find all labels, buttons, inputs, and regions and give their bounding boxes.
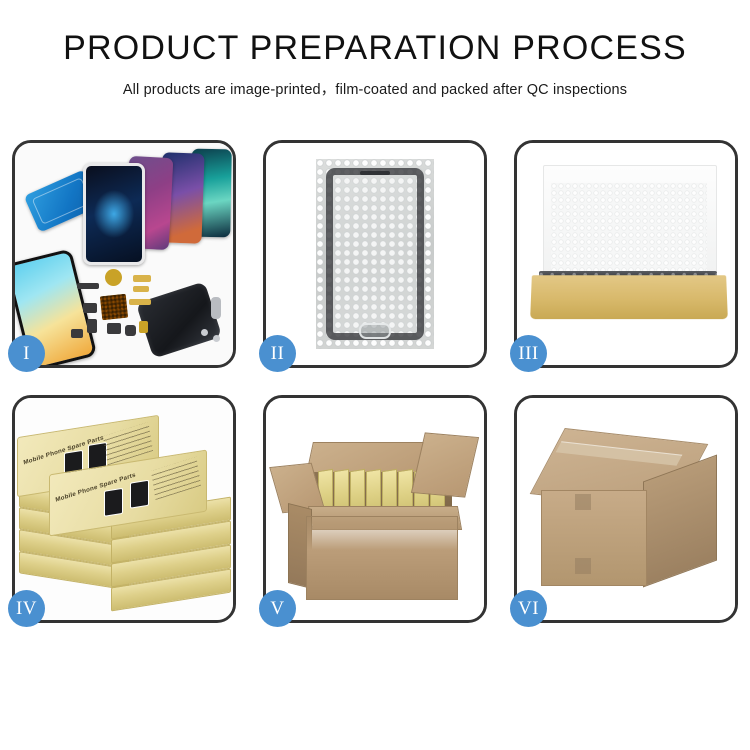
screen-glass-frame bbox=[326, 168, 424, 340]
step-badge-4: IV bbox=[8, 590, 45, 627]
box-label-front: Mobile Phone Spare Parts bbox=[55, 472, 136, 504]
carton-front-face bbox=[541, 490, 647, 586]
step-badge-2: II bbox=[259, 335, 296, 372]
process-step-panel-2: II bbox=[263, 140, 487, 368]
carton-front-panel bbox=[306, 516, 458, 600]
page-subtitle: All products are image-printed，film-coat… bbox=[0, 78, 750, 99]
part-screw-2 bbox=[213, 335, 220, 342]
part-screw-1 bbox=[201, 329, 208, 336]
page-header: PRODUCT PREPARATION PROCESS All products… bbox=[0, 0, 750, 99]
phone-back-housing bbox=[136, 281, 222, 358]
step-badge-5: V bbox=[259, 590, 296, 627]
step-badge-3: III bbox=[510, 335, 547, 372]
box-lid-phone-image-4 bbox=[130, 480, 149, 509]
part-flex-cable-1 bbox=[133, 275, 151, 282]
part-speaker-coil bbox=[105, 269, 122, 286]
process-step-panel-5: V bbox=[263, 395, 487, 623]
part-battery-connector bbox=[87, 319, 97, 333]
page-title: PRODUCT PREPARATION PROCESS bbox=[0, 30, 750, 67]
bubble-wrapped-screen-image bbox=[266, 143, 484, 365]
process-step-panel-6: VI bbox=[514, 395, 738, 623]
process-step-panel-3: III bbox=[514, 140, 738, 368]
part-flex-cable-3 bbox=[129, 299, 151, 305]
step-badge-1: I bbox=[8, 335, 45, 372]
box-lid-phone-image-3 bbox=[104, 488, 123, 517]
step-badge-6: VI bbox=[510, 590, 547, 627]
carton-flap-tab-top bbox=[575, 494, 591, 510]
part-camera-module bbox=[107, 323, 121, 334]
process-step-panel-4: Mobile Phone Spare Parts Mobile Phone Sp… bbox=[12, 395, 236, 623]
stacked-retail-boxes-image: Mobile Phone Spare Parts Mobile Phone Sp… bbox=[15, 398, 233, 620]
part-tweezers bbox=[211, 297, 221, 319]
box-stack: Mobile Phone Spare Parts Mobile Phone Sp… bbox=[15, 398, 233, 620]
part-connector bbox=[77, 283, 99, 289]
black-frame-screen bbox=[83, 163, 145, 265]
chip-array-part bbox=[100, 294, 128, 321]
screen-in-open-box-image bbox=[517, 143, 735, 365]
process-step-panel-1: I bbox=[12, 140, 236, 368]
part-small-clip bbox=[71, 329, 83, 338]
phone-screens-and-parts-image bbox=[15, 143, 233, 365]
sealed-carton-image bbox=[517, 398, 735, 620]
kraft-box-tray bbox=[530, 275, 728, 319]
process-step-grid: I II III bbox=[12, 140, 738, 623]
part-bracket bbox=[83, 303, 97, 313]
part-gold-contact bbox=[139, 321, 148, 333]
carton-flap-tab-bottom bbox=[575, 558, 591, 574]
part-vibrator bbox=[125, 325, 136, 336]
open-carton-filled-image bbox=[266, 398, 484, 620]
foam-liner bbox=[551, 183, 707, 281]
box-lid-spec-lines-front bbox=[151, 457, 201, 500]
part-flex-cable-2 bbox=[133, 286, 149, 292]
